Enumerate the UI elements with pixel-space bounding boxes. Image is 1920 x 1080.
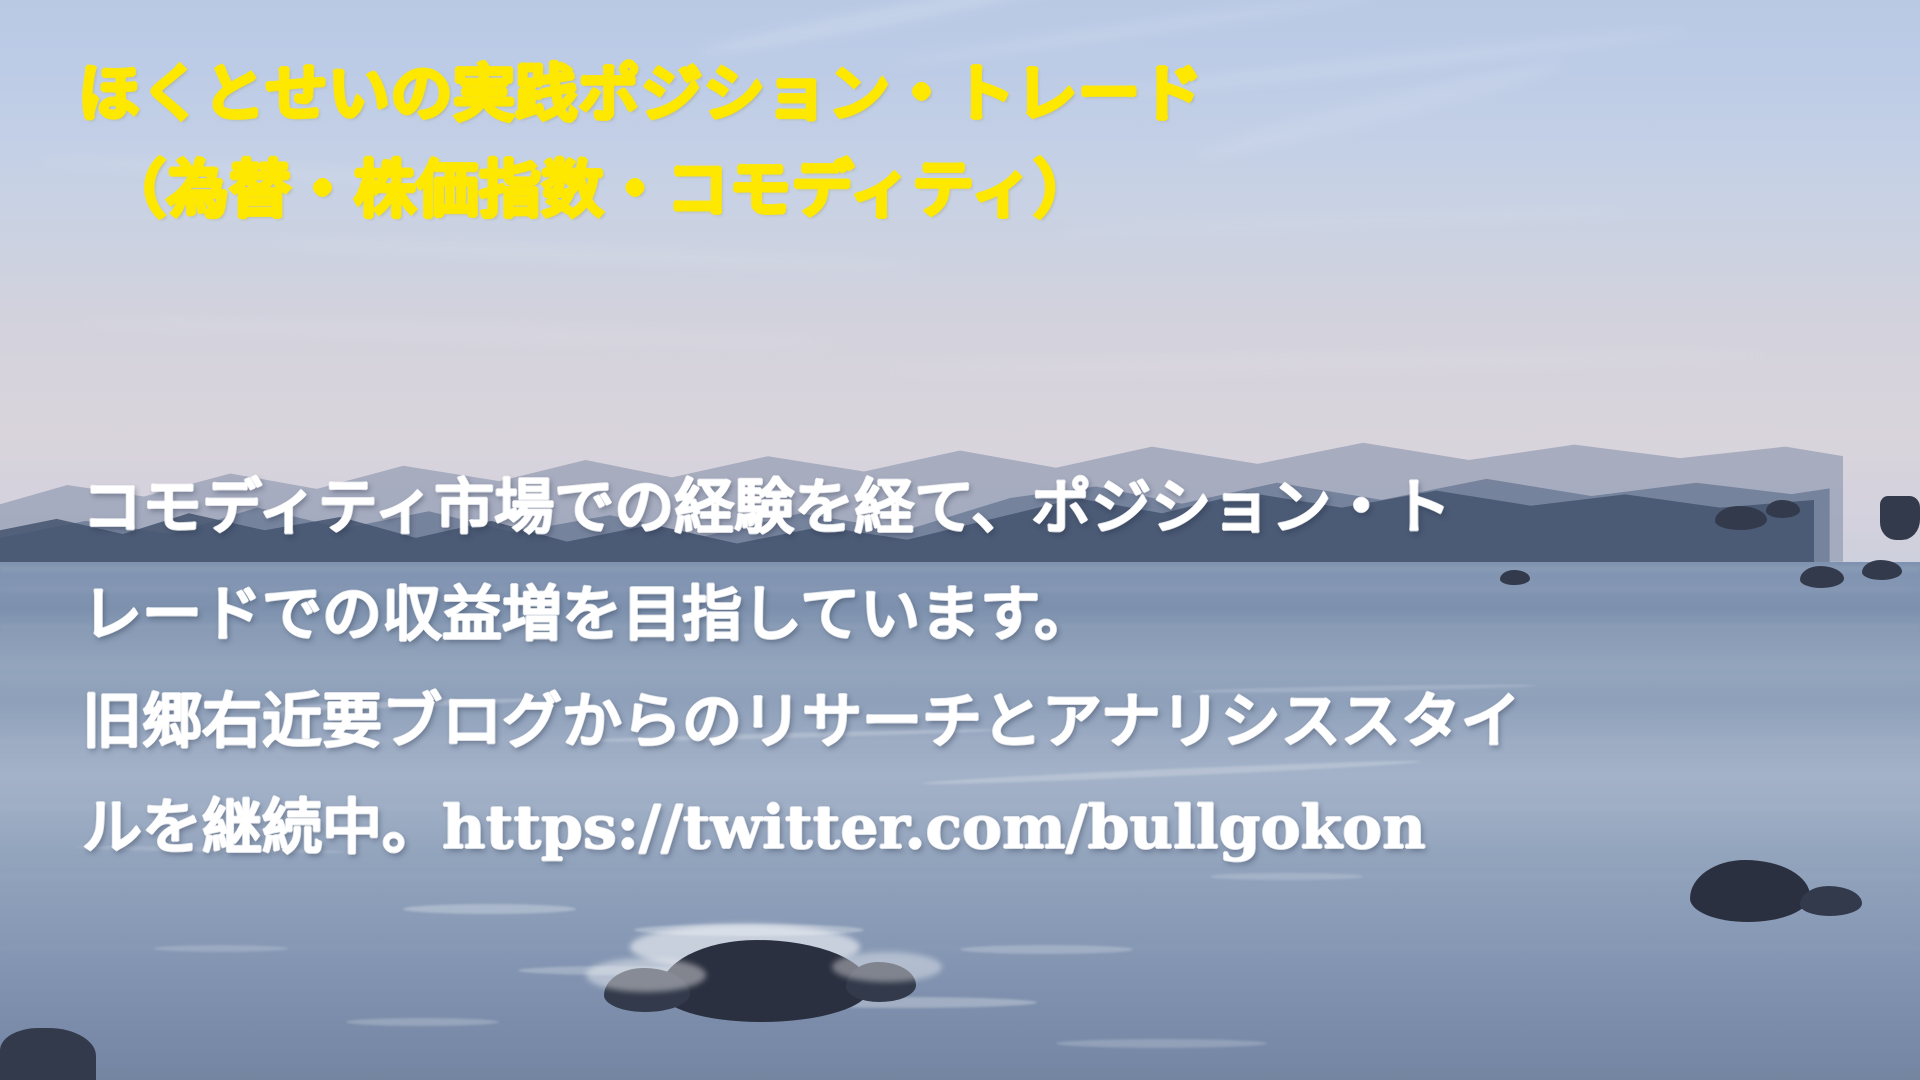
sun-glitter (346, 1018, 500, 1026)
wave-splash (832, 952, 942, 982)
body-copy: コモディティ市場での経験を経て、ポジション・ト レードでの収益増を目指しています… (82, 455, 1642, 882)
body-line-4-prefix: ルを継続中。 (82, 793, 442, 863)
twitter-profile-link[interactable]: https://twitter.com/bullgokon (442, 793, 1426, 863)
sea-rock (1800, 886, 1862, 916)
sea-rock (1880, 496, 1920, 540)
sun-glitter (1056, 1039, 1267, 1048)
wave-splash (586, 958, 706, 992)
sun-glitter (403, 904, 576, 914)
body-line-3: 旧郷右近要ブログからのリサーチとアナリシススタイ (82, 669, 1642, 776)
headline-line-2: （為替・株価指数・コモディティ） (78, 142, 1578, 238)
sea-rock (1766, 500, 1800, 518)
foreground-rock (0, 1028, 96, 1080)
sea-rock (1800, 566, 1844, 588)
body-line-4: ルを継続中。https://twitter.com/bullgokon (82, 775, 1642, 882)
slide-canvas: ほくとせいの実践ポジション・トレード （為替・株価指数・コモディティ） コモディ… (0, 0, 1920, 1080)
body-line-2: レードでの収益増を目指しています。 (82, 562, 1642, 669)
body-line-1: コモディティ市場での経験を経て、ポジション・ト (82, 455, 1642, 562)
sun-glitter (960, 945, 1133, 954)
headline-line-1: ほくとせいの実践ポジション・トレード (78, 46, 1578, 142)
sea-rock (1862, 560, 1902, 580)
sea-rock (1715, 506, 1767, 530)
headline: ほくとせいの実践ポジション・トレード （為替・株価指数・コモディティ） (78, 46, 1578, 238)
